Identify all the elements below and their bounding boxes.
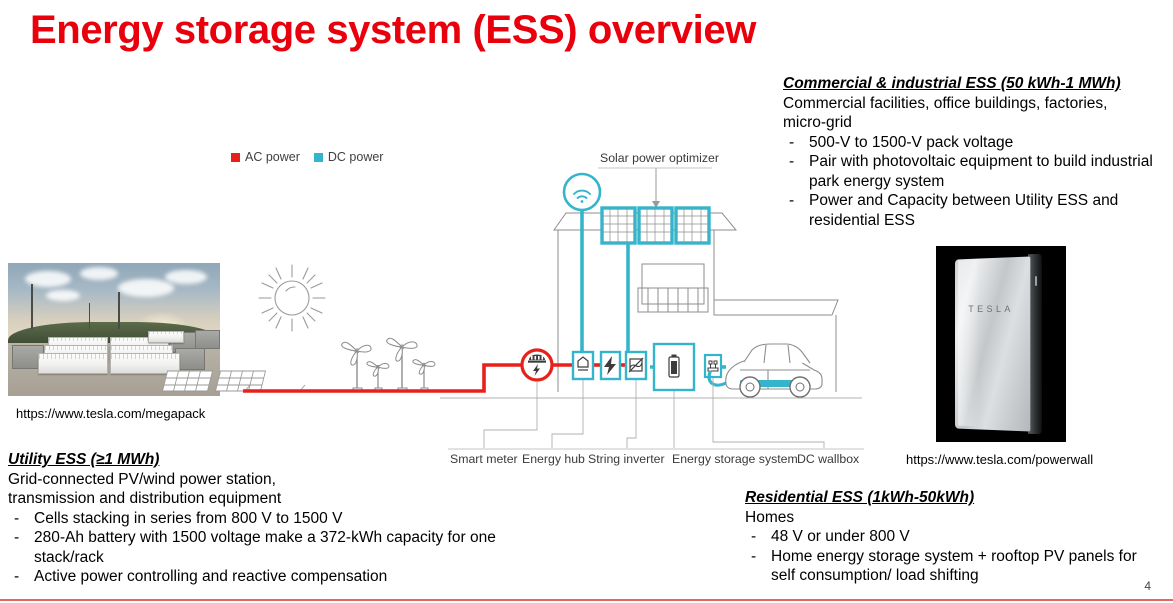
residential-ess-block: Residential ESS (1kWh-50kWh) Homes 48 V … xyxy=(745,488,1145,586)
powerwall-caption: https://www.tesla.com/powerwall xyxy=(906,452,1093,467)
bottom-divider xyxy=(0,599,1173,601)
powerwall-led-icon xyxy=(1035,276,1037,286)
photo-cloud xyxy=(165,270,207,284)
house-outline xyxy=(554,213,838,392)
legend-label-ac: AC power xyxy=(245,150,300,164)
car-wheel-icon xyxy=(740,377,810,397)
commercial-bullets: 500-V to 1500-V pack voltage Pair with p… xyxy=(783,133,1163,231)
legend-item-ac: AC power xyxy=(231,150,300,164)
utility-ess-block: Utility ESS (≥1 MWh) Grid-connected PV/w… xyxy=(8,450,568,587)
photo-cloud xyxy=(118,279,174,297)
optimizer-leader-line xyxy=(598,168,712,208)
powerwall-sheen xyxy=(958,260,980,427)
string-inverter-icon xyxy=(626,352,646,379)
diagram-legend: AC power DC power xyxy=(231,150,383,164)
energy-hub-icon xyxy=(573,352,593,379)
label-dc-wallbox: DC wallbox xyxy=(797,452,859,466)
photo-pole xyxy=(89,303,91,330)
photo-cloud xyxy=(80,267,118,280)
commercial-sub-line-1: Commercial facilities, office buildings,… xyxy=(783,94,1163,114)
sun-icon xyxy=(259,265,325,331)
dc-power-lines xyxy=(582,210,726,367)
label-solar-power-optimizer: Solar power optimizer xyxy=(600,151,719,165)
label-string-inverter: String inverter xyxy=(588,452,665,466)
photo-cloud xyxy=(46,290,80,301)
photo-battery-unit xyxy=(110,353,180,374)
tesla-logo: TESLA xyxy=(960,304,1022,314)
label-energy-storage-system: Energy storage system xyxy=(672,452,798,466)
ev-charging-cable xyxy=(709,372,726,385)
wifi-gateway-icon xyxy=(564,174,600,210)
ev-battery-pack xyxy=(740,380,802,387)
commercial-industrial-block: Commercial & industrial ESS (50 kWh-1 MW… xyxy=(783,74,1163,230)
list-item: 280-Ah battery with 1500 voltage make a … xyxy=(8,528,568,567)
list-item: 48 V or under 800 V xyxy=(745,527,1145,547)
page-title: Energy storage system (ESS) overview xyxy=(30,8,756,53)
page-number: 4 xyxy=(1144,579,1151,593)
wind-turbine-icon xyxy=(342,338,435,391)
utility-sub-line-1: Grid-connected PV/wind power station, xyxy=(8,470,568,490)
photo-pole xyxy=(31,284,33,329)
label-smart-meter: Smart meter xyxy=(450,452,518,466)
commercial-sub-line-2: micro-grid xyxy=(783,113,1163,133)
legend-label-dc: DC power xyxy=(328,150,384,164)
powerwall-photo: TESLA xyxy=(936,246,1066,442)
list-item: Power and Capacity between Utility ESS a… xyxy=(783,191,1163,230)
dc-power-swatch-icon xyxy=(314,153,323,162)
photo-battery-unit xyxy=(148,331,184,344)
utility-sub-line-2: transmission and distribution equipment xyxy=(8,489,568,509)
rooftop-solar-panels-icon xyxy=(602,208,709,243)
label-energy-hub: Energy hub xyxy=(522,452,585,466)
commercial-heading: Commercial & industrial ESS (50 kWh-1 MW… xyxy=(783,74,1163,94)
energy-storage-system-icon xyxy=(654,344,694,390)
smart-meter-icon xyxy=(522,350,552,380)
residential-heading: Residential ESS (1kWh-50kWh) xyxy=(745,488,1145,508)
photo-pole xyxy=(118,292,120,329)
list-item: 500-V to 1500-V pack voltage xyxy=(783,133,1163,153)
list-item: Pair with photovoltaic equipment to buil… xyxy=(783,152,1163,191)
legend-item-dc: DC power xyxy=(314,150,384,164)
dc-wallbox-icon xyxy=(705,355,721,377)
residential-bullets: 48 V or under 800 V Home energy storage … xyxy=(745,527,1145,586)
inverter-bolt-icon xyxy=(601,352,620,379)
photo-transformer xyxy=(195,330,220,349)
utility-bullets: Cells stacking in series from 800 V to 1… xyxy=(8,509,568,587)
list-item: Cells stacking in series from 800 V to 1… xyxy=(8,509,568,529)
component-leader-lines xyxy=(484,378,824,448)
list-item: Active power controlling and reactive co… xyxy=(8,567,568,587)
electric-car-icon xyxy=(726,344,822,389)
residential-sub-line-1: Homes xyxy=(745,508,1145,528)
photo-transformer xyxy=(175,348,205,370)
photo-battery-unit xyxy=(38,353,108,374)
ac-power-line xyxy=(243,365,626,391)
list-item: Home energy storage system + rooftop PV … xyxy=(745,547,1145,586)
megapack-photo xyxy=(8,263,220,396)
megapack-caption: https://www.tesla.com/megapack xyxy=(16,406,205,421)
ac-power-swatch-icon xyxy=(231,153,240,162)
